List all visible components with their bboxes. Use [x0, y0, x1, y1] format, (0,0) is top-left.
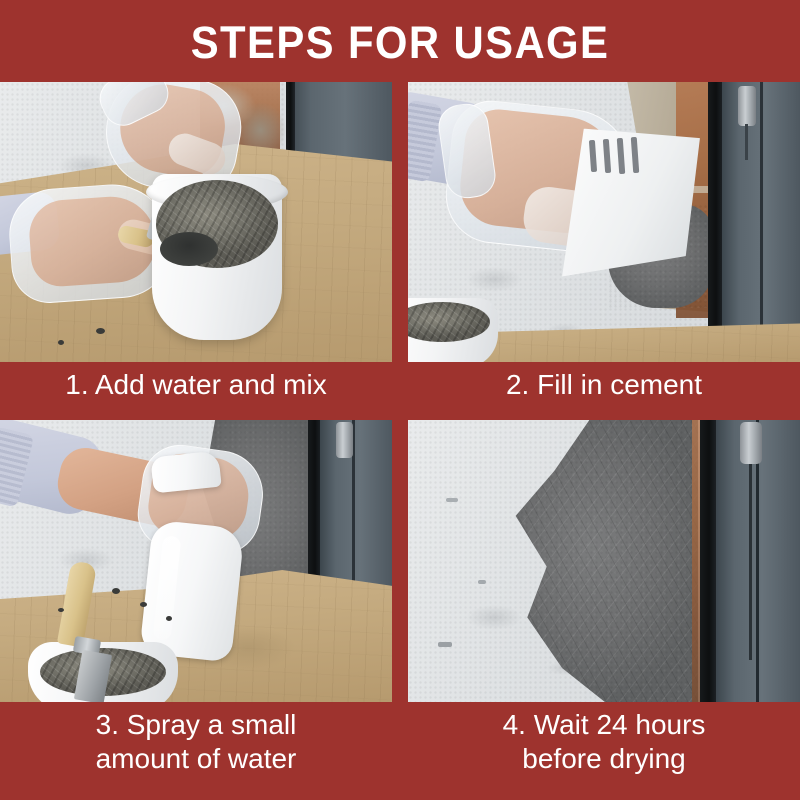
caption-line: 2. Fill in cement: [408, 368, 800, 402]
door-hinge: [740, 422, 762, 464]
spray-bottle: [139, 520, 245, 663]
caption-line: 3. Spray a small: [0, 708, 392, 742]
step-3-caption: 3. Spray a small amount of water: [0, 708, 392, 776]
step-2-caption: 2. Fill in cement: [408, 368, 800, 402]
step-4-image: [408, 420, 800, 702]
step-3-image: [0, 420, 392, 702]
debris-speck: [58, 608, 64, 612]
caption-line: before drying: [408, 742, 800, 776]
page-title: STEPS FOR USAGE: [191, 20, 610, 65]
step-1-image: [0, 82, 392, 362]
hinge-pin: [745, 124, 748, 160]
caption-line: 4. Wait 24 hours: [408, 708, 800, 742]
debris-speck: [140, 602, 147, 607]
wall-speck: [446, 498, 458, 502]
caption-line: amount of water: [0, 742, 392, 776]
debris-speck: [58, 340, 64, 345]
step-2-image: [408, 82, 800, 362]
door-hinge: [738, 86, 756, 126]
door-frame-seam: [760, 82, 763, 332]
wall-speck: [478, 580, 486, 584]
door-frame: [288, 82, 392, 162]
spray-bottle-trigger: [150, 451, 221, 494]
title-bar: STEPS FOR USAGE: [0, 0, 800, 82]
step-4-caption: 4. Wait 24 hours before drying: [408, 708, 800, 776]
steps-for-usage-infographic: STEPS FOR USAGE: [0, 0, 800, 800]
bucket-inner-shadow: [160, 232, 218, 266]
wall-speck: [438, 642, 452, 647]
hinge-pin: [749, 464, 752, 660]
caption-line: 1. Add water and mix: [0, 368, 392, 402]
door-hinge: [336, 422, 353, 458]
debris-speck: [166, 616, 172, 621]
debris-speck: [96, 328, 105, 334]
step-1-caption: 1. Add water and mix: [0, 368, 392, 402]
debris-speck: [112, 588, 120, 594]
